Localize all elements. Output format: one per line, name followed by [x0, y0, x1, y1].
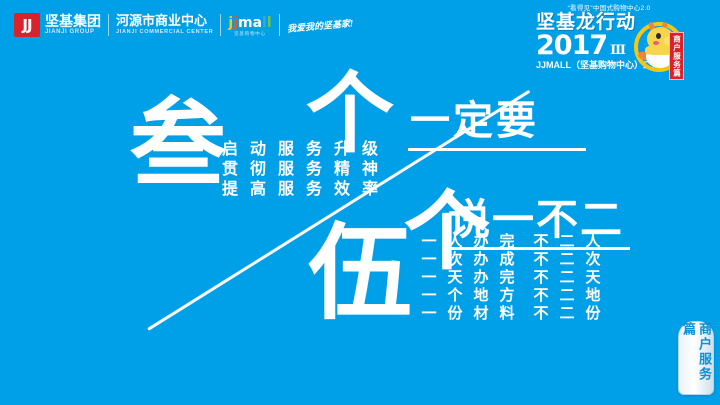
char: 率 — [356, 180, 384, 200]
char: 地 — [580, 287, 606, 305]
char: 成 — [494, 251, 520, 269]
jianji-group-name-en: JIANJI GROUP — [45, 28, 101, 36]
char: 不 — [528, 305, 554, 323]
char: 次 — [442, 251, 468, 269]
char: 一 — [416, 287, 442, 305]
char: 人 — [442, 233, 468, 251]
char: 效 — [328, 180, 356, 200]
char: 提 — [216, 180, 244, 200]
jianji-group-name-cn: 坚基集团 — [45, 14, 101, 28]
jjmall-logo-letters: jjmall — [228, 14, 271, 30]
char: 地 — [468, 287, 494, 305]
char: 办 — [468, 251, 494, 269]
jjmall-logo: jjmall 坚基购物中心 — [228, 14, 271, 37]
logo-divider-2 — [220, 14, 221, 36]
section-five-lines: 一 人 办 完 不 二 人 一 次 办 成 不 二 次 一 天 — [416, 233, 606, 323]
char: 贯 — [216, 160, 244, 180]
char: 人 — [580, 233, 606, 251]
char: 动 — [244, 140, 272, 160]
section-three-underline — [408, 148, 586, 151]
campaign-badge: “看得见”中国式购物中心2.0 坚基龙行动 2017 Ⅲ JJMALL（坚基购物… — [534, 4, 684, 88]
char: 精 — [328, 160, 356, 180]
side-tab-merchant-service[interactable]: 商户服务篇 — [678, 321, 714, 395]
campaign-edition-roman: Ⅲ — [610, 43, 626, 58]
char: 一 — [416, 251, 442, 269]
commercial-center-name-en: JIANJI COMMERCIAL CENTER — [116, 28, 213, 36]
poster-canvas: JJ 坚基集团 JIANJI GROUP 河源市商业中心 JIANJI COMM… — [0, 0, 720, 405]
section-five-number: 伍 — [308, 227, 408, 321]
header-logo-bar: JJ 坚基集团 JIANJI GROUP 河源市商业中心 JIANJI COMM… — [14, 12, 353, 38]
char: 完 — [494, 233, 520, 251]
char: 升 — [328, 140, 356, 160]
section-three-number: 叁 — [130, 102, 222, 188]
char: 方 — [494, 287, 520, 305]
section-five-line: 一 人 办 完 不 二 人 — [416, 233, 606, 251]
char: 份 — [442, 305, 468, 323]
char: 二 — [554, 305, 580, 323]
char: 天 — [580, 269, 606, 287]
char: 彻 — [244, 160, 272, 180]
char: 务 — [300, 140, 328, 160]
char: 一 — [416, 305, 442, 323]
char: 二 — [554, 233, 580, 251]
char: 天 — [442, 269, 468, 287]
char: 级 — [356, 140, 384, 160]
section-three-line: 提 高 服 务 效 率 — [216, 180, 384, 200]
char: 高 — [244, 180, 272, 200]
section-five-line: 一 次 办 成 不 二 次 — [416, 251, 606, 269]
commercial-center-wordmark: 河源市商业中心 JIANJI COMMERCIAL CENTER — [116, 14, 213, 36]
section-five-line: 一 份 材 料 不 二 份 — [416, 305, 606, 323]
char: 办 — [468, 269, 494, 287]
char: 务 — [300, 180, 328, 200]
char: 办 — [468, 233, 494, 251]
commercial-center-name-cn: 河源市商业中心 — [116, 14, 213, 28]
char: 料 — [494, 305, 520, 323]
char: 务 — [300, 160, 328, 180]
section-three-lines: 启 动 服 务 升 级 贯 彻 服 务 精 神 提 高 服 务 效 率 — [216, 140, 384, 200]
side-tab-label: 商户服务篇 — [680, 322, 712, 394]
section-three-line: 贯 彻 服 务 精 神 — [216, 160, 384, 180]
char: 启 — [216, 140, 244, 160]
char: 完 — [494, 269, 520, 287]
jianji-group-mark-icon: JJ — [14, 13, 40, 37]
char: 不 — [528, 269, 554, 287]
char: 个 — [442, 287, 468, 305]
char: 材 — [468, 305, 494, 323]
section-three-slogan: 一定要 — [410, 100, 539, 142]
char: 不 — [528, 287, 554, 305]
char: 二 — [554, 269, 580, 287]
section-three-line: 启 动 服 务 升 级 — [216, 140, 384, 160]
char: 二 — [554, 251, 580, 269]
char: 服 — [272, 160, 300, 180]
char: 次 — [580, 251, 606, 269]
campaign-ribbon-badge: 商户服务篇 — [669, 32, 684, 80]
jianji-group-wordmark: 坚基集团 JIANJI GROUP — [45, 14, 101, 36]
section-five-line: 一 个 地 方 不 二 地 — [416, 287, 606, 305]
jianji-mark-letters: JJ — [22, 18, 31, 33]
campaign-year: 2017 — [536, 33, 607, 59]
campaign-ribbon-label: 商户服务篇 — [672, 35, 682, 78]
char: 份 — [580, 305, 606, 323]
logo-divider-3 — [279, 14, 280, 36]
char: 一 — [416, 269, 442, 287]
char: 神 — [356, 160, 384, 180]
char: 二 — [554, 287, 580, 305]
char: 不 — [528, 233, 554, 251]
section-five-line: 一 天 办 完 不 二 天 — [416, 269, 606, 287]
jjmall-logo-sub: 坚基购物中心 — [234, 32, 266, 37]
logo-divider-1 — [108, 14, 109, 36]
char: 服 — [272, 180, 300, 200]
handwriting-slogan: 我爱我的坚基家! — [286, 16, 353, 35]
char: 不 — [528, 251, 554, 269]
char: 一 — [416, 233, 442, 251]
char: 服 — [272, 140, 300, 160]
